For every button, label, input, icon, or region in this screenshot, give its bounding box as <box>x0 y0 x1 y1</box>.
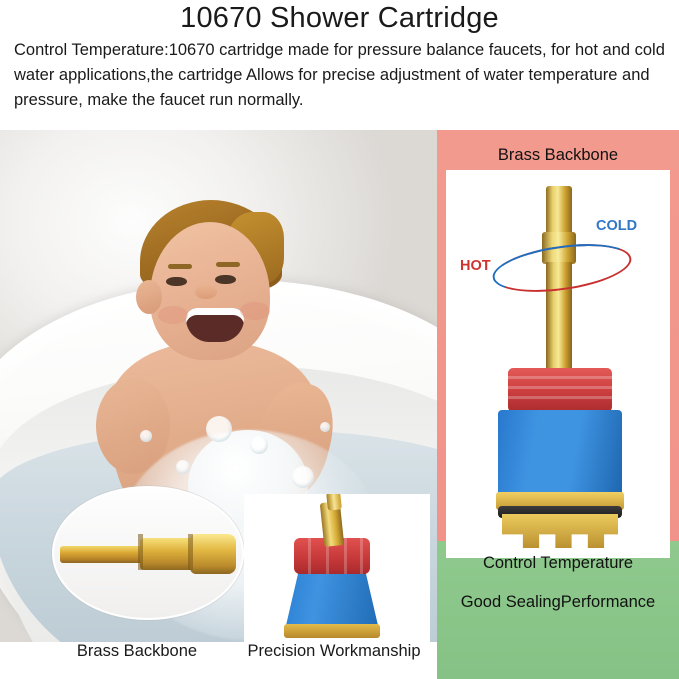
product-infographic: 10670 Shower Cartridge Control Temperatu… <box>0 0 679 679</box>
brass-backbone-title: Brass Backbone <box>437 146 679 165</box>
product-description: Control Temperature:10670 cartridge made… <box>14 38 666 113</box>
precision-workmanship-inset <box>244 494 430 642</box>
brass-rod-middle <box>140 538 194 570</box>
bubble <box>206 416 232 442</box>
child-ear <box>136 280 162 314</box>
child-cheek-right <box>240 302 270 320</box>
child-eye-left <box>166 277 187 286</box>
cold-label: COLD <box>596 218 637 234</box>
feature-sealing-performance: Good SealingPerformance <box>437 593 679 612</box>
cartridge-splined-base <box>502 514 618 548</box>
hot-label: HOT <box>460 258 491 274</box>
bubble <box>176 460 190 474</box>
bubble <box>250 436 268 454</box>
image-collage: Brass Backbone Precision Workmanship Bra… <box>0 130 679 679</box>
header: 10670 Shower Cartridge Control Temperatu… <box>0 0 679 130</box>
bubble <box>320 422 330 432</box>
cartridge-collar-red <box>508 368 612 412</box>
brass-rod-groove <box>188 534 193 570</box>
child-cheek-left <box>158 306 188 324</box>
child-eyebrow-left <box>168 264 192 269</box>
brass-rod-head <box>190 534 236 574</box>
child-eyebrow-right <box>216 262 240 267</box>
cartridge-diagram: HOT COLD <box>446 170 670 558</box>
child-nose <box>195 285 217 299</box>
brass-rod-shaft <box>60 546 144 563</box>
cartridge-body-blue <box>498 410 622 498</box>
bubble <box>292 466 314 488</box>
precision-workmanship-caption: Precision Workmanship <box>228 642 440 661</box>
cartridge-stem-tip <box>326 494 342 511</box>
child-eye-right <box>215 275 236 284</box>
bubble <box>140 430 152 442</box>
page-title: 10670 Shower Cartridge <box>0 2 679 35</box>
brass-backbone-caption: Brass Backbone <box>32 642 242 661</box>
cold-rotation-arrow <box>490 236 635 299</box>
cartridge-stem-top <box>546 186 572 238</box>
brass-rod <box>60 532 240 576</box>
brass-backbone-inset <box>52 486 244 620</box>
brass-rod-groove <box>138 534 143 570</box>
feature-control-temperature: Control Temperature <box>437 554 679 573</box>
cartridge-base-cap <box>284 624 380 638</box>
